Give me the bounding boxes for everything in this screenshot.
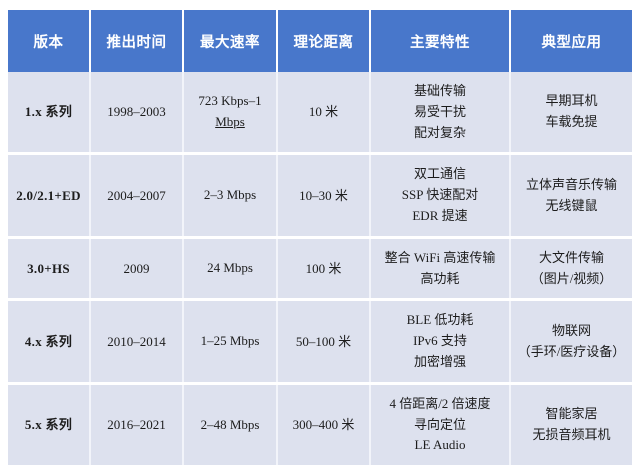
cell-version: 4.x 系列 (8, 300, 90, 383)
cell-line: 大文件传输 (514, 248, 629, 269)
cell-max-speed: 723 Kbps–1 Mbps (183, 72, 277, 154)
table-row: 3.0+HS 2009 24 Mbps 100 米 整合 WiFi 高速传输 高… (8, 237, 632, 300)
cell-release-time: 2004–2007 (90, 154, 183, 237)
cell-release-time: 1998–2003 (90, 72, 183, 154)
cell-line: EDR 提速 (374, 206, 506, 227)
cell-line: （手环/医疗设备） (514, 342, 629, 363)
cell-line: 2–3 Mbps (187, 185, 273, 206)
cell-typical-applications: 早期耳机 车载免提 (510, 72, 632, 154)
cell-line: IPv6 支持 (374, 331, 506, 352)
cell-line: 无损音频耳机 (514, 425, 629, 446)
cell-version: 3.0+HS (8, 237, 90, 300)
cell-main-features: BLE 低功耗 IPv6 支持 加密增强 (370, 300, 510, 383)
cell-line: 早期耳机 (514, 91, 629, 112)
cell-line: 加密增强 (374, 352, 506, 373)
table-header: 版本 推出时间 最大速率 理论距离 主要特性 典型应用 (8, 10, 632, 72)
cell-version: 1.x 系列 (8, 72, 90, 154)
cell-line: 1–25 Mbps (187, 331, 273, 352)
cell-line: （图片/视频） (514, 269, 629, 290)
column-header-release-time: 推出时间 (90, 10, 183, 72)
cell-line: 基础传输 (374, 81, 506, 102)
cell-version: 2.0/2.1+ED (8, 154, 90, 237)
cell-line: SSP 快速配对 (374, 185, 506, 206)
cell-theoretical-range: 300–400 米 (277, 383, 370, 465)
table-row: 2.0/2.1+ED 2004–2007 2–3 Mbps 10–30 米 双工… (8, 154, 632, 237)
cell-main-features: 整合 WiFi 高速传输 高功耗 (370, 237, 510, 300)
cell-main-features: 4 倍距离/2 倍速度 寻向定位 LE Audio (370, 383, 510, 465)
spec-table: 版本 推出时间 最大速率 理论距离 主要特性 典型应用 1.x 系列 1998–… (8, 10, 632, 465)
cell-line: 寻向定位 (374, 415, 506, 436)
cell-max-speed: 1–25 Mbps (183, 300, 277, 383)
cell-line: 高功耗 (374, 269, 506, 290)
column-header-main-features: 主要特性 (370, 10, 510, 72)
table-row: 4.x 系列 2010–2014 1–25 Mbps 50–100 米 BLE … (8, 300, 632, 383)
cell-main-features: 基础传输 易受干扰 配对复杂 (370, 72, 510, 154)
cell-theoretical-range: 100 米 (277, 237, 370, 300)
cell-line: 车载免提 (514, 112, 629, 133)
cell-release-time: 2010–2014 (90, 300, 183, 383)
cell-line: 物联网 (514, 321, 629, 342)
bluetooth-version-comparison-table: 版本 推出时间 最大速率 理论距离 主要特性 典型应用 1.x 系列 1998–… (8, 10, 632, 465)
cell-line: 24 Mbps (187, 258, 273, 279)
cell-max-speed: 2–48 Mbps (183, 383, 277, 465)
cell-line: 2–48 Mbps (187, 415, 273, 436)
table-body: 1.x 系列 1998–2003 723 Kbps–1 Mbps 10 米 基础… (8, 72, 632, 465)
cell-max-speed: 24 Mbps (183, 237, 277, 300)
cell-version: 5.x 系列 (8, 383, 90, 465)
cell-line: 整合 WiFi 高速传输 (374, 248, 506, 269)
cell-line: 4 倍距离/2 倍速度 (374, 394, 506, 415)
cell-theoretical-range: 10 米 (277, 72, 370, 154)
cell-max-speed: 2–3 Mbps (183, 154, 277, 237)
cell-line: 723 Kbps–1 (187, 91, 273, 112)
cell-line: 智能家居 (514, 404, 629, 425)
table-header-row: 版本 推出时间 最大速率 理论距离 主要特性 典型应用 (8, 10, 632, 72)
column-header-version: 版本 (8, 10, 90, 72)
cell-release-time: 2016–2021 (90, 383, 183, 465)
table-row: 5.x 系列 2016–2021 2–48 Mbps 300–400 米 4 倍… (8, 383, 632, 465)
cell-line: 易受干扰 (374, 102, 506, 123)
column-header-theoretical-range: 理论距离 (277, 10, 370, 72)
cell-typical-applications: 物联网 （手环/医疗设备） (510, 300, 632, 383)
column-header-typical-applications: 典型应用 (510, 10, 632, 72)
cell-typical-applications: 大文件传输 （图片/视频） (510, 237, 632, 300)
column-header-max-speed: 最大速率 (183, 10, 277, 72)
cell-release-time: 2009 (90, 237, 183, 300)
cell-line: 双工通信 (374, 164, 506, 185)
cell-line: 无线键鼠 (514, 196, 629, 217)
cell-main-features: 双工通信 SSP 快速配对 EDR 提速 (370, 154, 510, 237)
cell-line: LE Audio (374, 435, 506, 456)
table-row: 1.x 系列 1998–2003 723 Kbps–1 Mbps 10 米 基础… (8, 72, 632, 154)
cell-line: 配对复杂 (374, 123, 506, 144)
cell-theoretical-range: 10–30 米 (277, 154, 370, 237)
cell-typical-applications: 智能家居 无损音频耳机 (510, 383, 632, 465)
cell-theoretical-range: 50–100 米 (277, 300, 370, 383)
cell-typical-applications: 立体声音乐传输 无线键鼠 (510, 154, 632, 237)
cell-line: 立体声音乐传输 (514, 175, 629, 196)
cell-line: Mbps (187, 112, 273, 133)
cell-line: BLE 低功耗 (374, 310, 506, 331)
